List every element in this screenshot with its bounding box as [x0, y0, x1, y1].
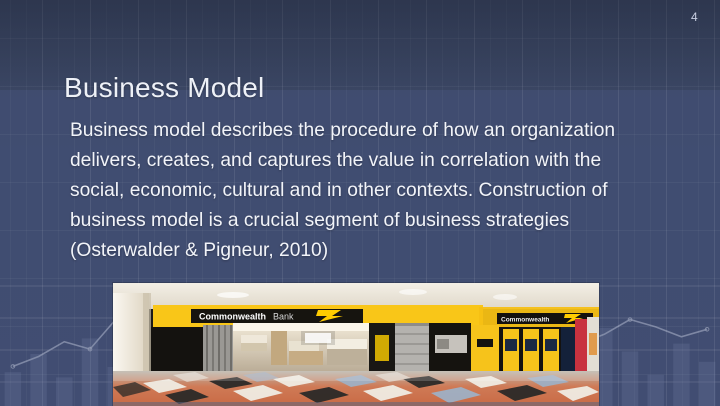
photo-sign-text: Commonwealth — [199, 312, 266, 322]
photo-curtain — [203, 325, 233, 373]
photo-atm-kiosks — [503, 329, 559, 371]
photo-yellow-panel — [471, 325, 499, 373]
page-number: 4 — [691, 10, 698, 24]
photo-sign-text-bank: Bank — [273, 312, 294, 322]
photo-shutter — [395, 323, 429, 373]
chart-watermark-bar — [5, 372, 21, 406]
photo-illustration: Commonwealth Bank Commonwealth — [113, 283, 599, 406]
presentation-slide: 4 Business Model Business model describe… — [0, 0, 720, 406]
chart-watermark-bar — [30, 354, 46, 406]
chart-watermark-bar — [622, 351, 638, 406]
slide-photo: Commonwealth Bank Commonwealth — [113, 283, 599, 406]
chart-watermark-bar — [56, 377, 72, 406]
slide-body-text: Business model describes the procedure o… — [70, 116, 660, 266]
photo-sign-text-secondary: Commonwealth — [501, 317, 549, 324]
chart-watermark-bar — [673, 344, 689, 406]
chart-watermark-bar — [699, 362, 715, 406]
photo-red-wall — [575, 319, 589, 373]
chart-watermark-bar — [647, 375, 663, 406]
page-title: Business Model — [64, 73, 264, 104]
